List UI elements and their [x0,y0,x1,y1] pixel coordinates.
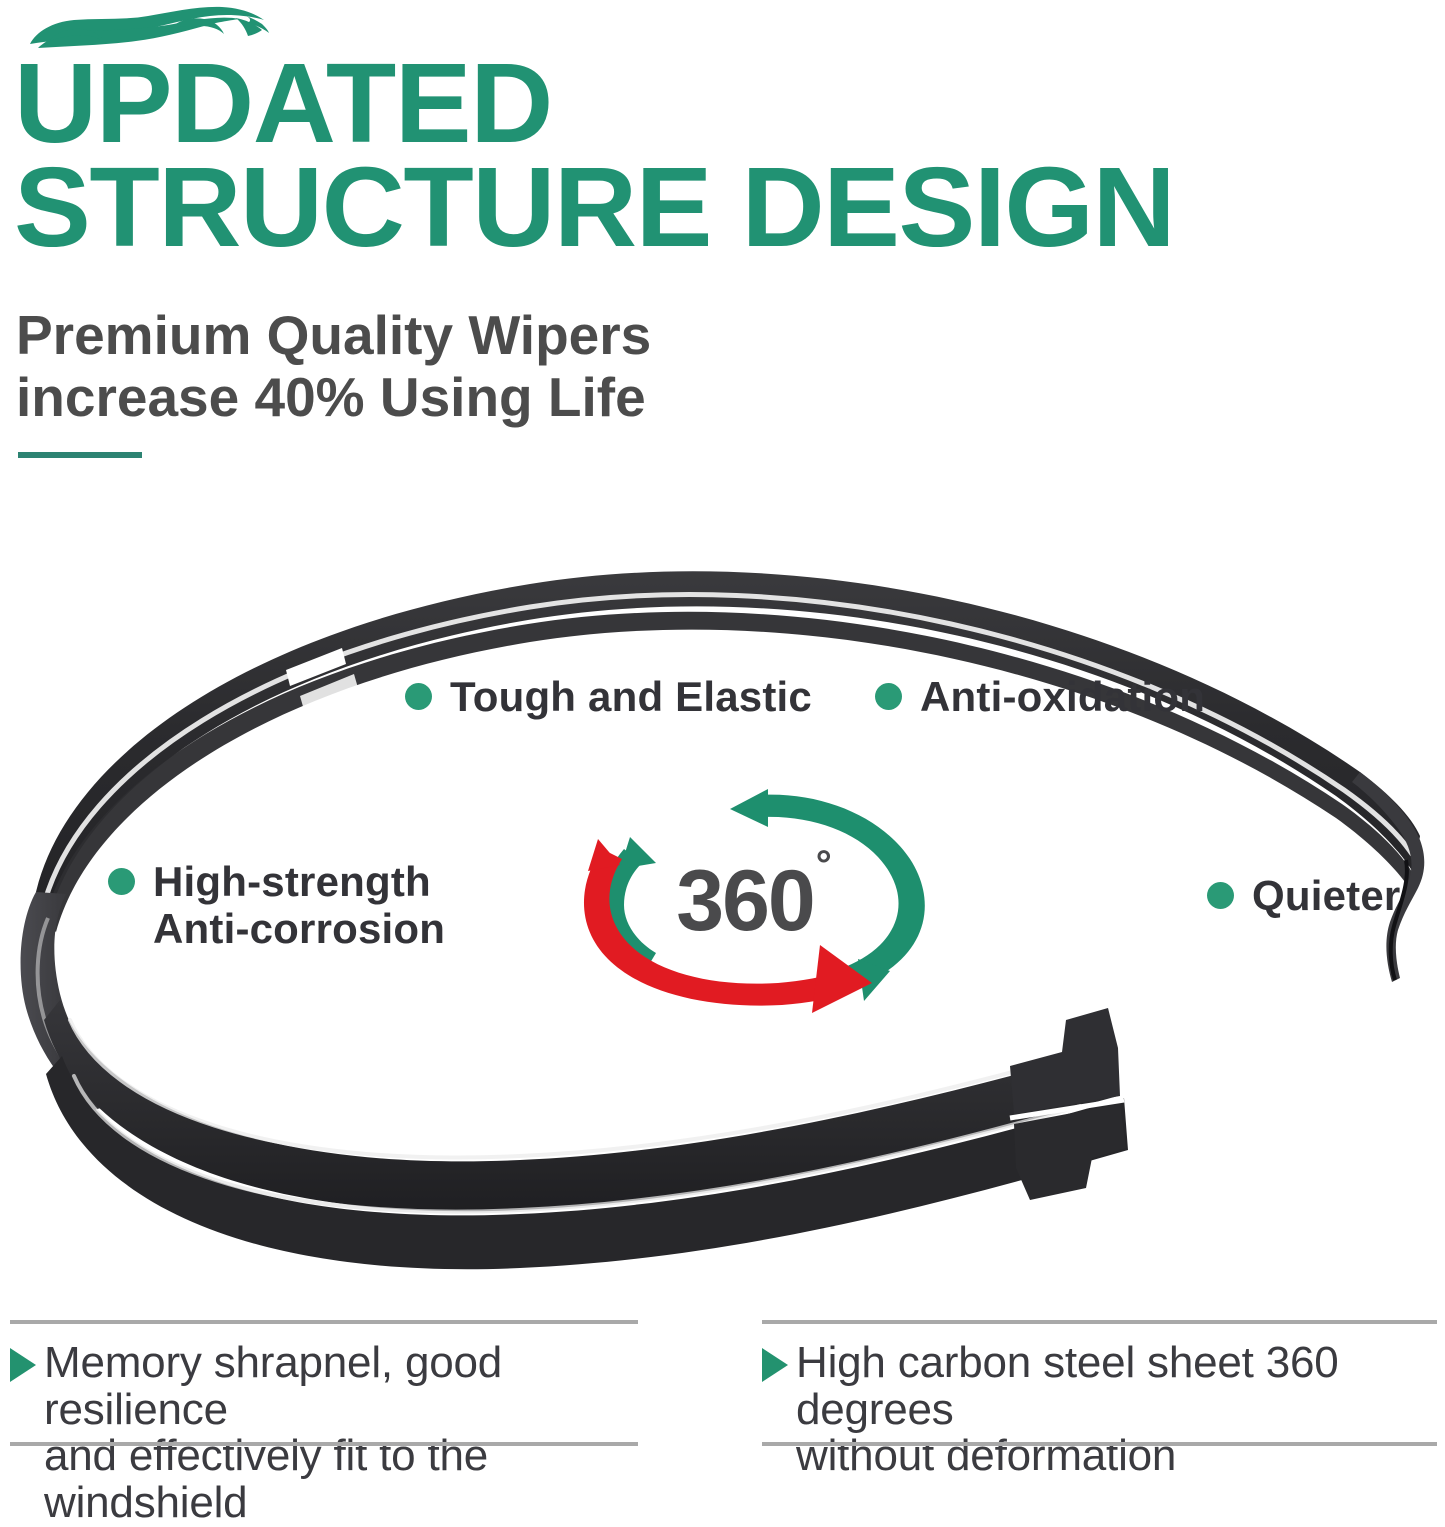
divider-line [10,1320,638,1324]
caption-text: High carbon steel sheet 360 degrees with… [796,1340,1437,1480]
feature-label: Tough and Elastic [450,673,812,720]
footer: Memory shrapnel, good resilience and eff… [0,1300,1445,1448]
accent-underline [18,452,142,458]
caption-text: Memory shrapnel, good resilience and eff… [44,1340,638,1527]
blade-end-tabs [1010,1008,1126,1200]
feature-anti-oxidation: Anti-oxidation [875,673,1205,720]
divider-line [10,1442,638,1446]
page-title: UPDATED STRUCTURE DESIGN [14,52,1445,260]
triangle-right-icon [762,1348,788,1382]
divider-line [762,1320,1437,1324]
bullet-dot-icon [405,683,432,710]
feature-label: Quieter [1252,872,1400,919]
feature-tough-and-elastic: Tough and Elastic [405,673,812,720]
triangle-right-icon [10,1348,36,1382]
feature-label: High-strength Anti-corrosion [153,858,445,952]
divider-line [762,1442,1437,1446]
feature-label: Anti-oxidation [920,673,1205,720]
rotation-360-badge: 360 ° [572,787,942,1022]
bullet-dot-icon [1207,882,1234,909]
caption-memory-shrapnel: Memory shrapnel, good resilience and eff… [10,1300,638,1448]
feature-high-strength-anti-corrosion: High-strength Anti-corrosion [108,858,445,952]
page-subtitle: Premium Quality Wipers increase 40% Usin… [16,305,1016,428]
feature-quieter: Quieter [1207,872,1400,919]
blade-front-arc [44,1000,1128,1269]
bullet-dot-icon [108,868,135,895]
bullet-dot-icon [875,683,902,710]
caption-high-carbon-steel: High carbon steel sheet 360 degrees with… [762,1300,1437,1448]
